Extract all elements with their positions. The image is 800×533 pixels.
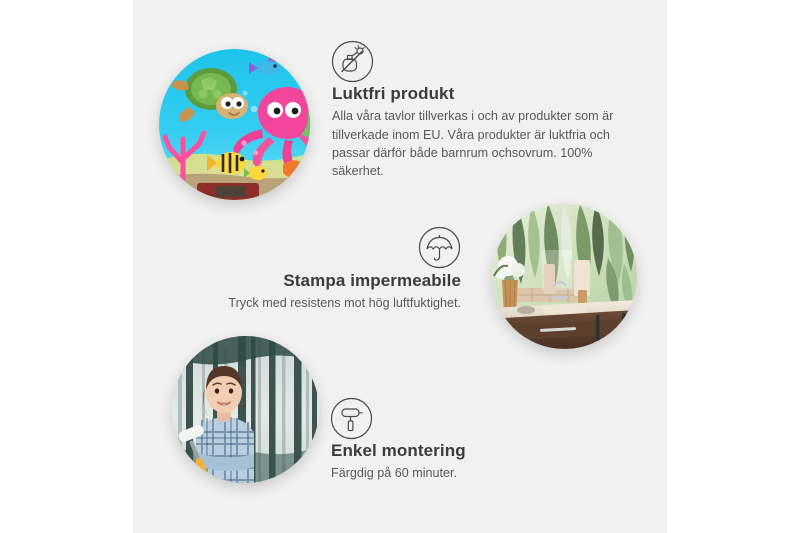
feature-title: Enkel montering [331, 440, 590, 461]
paint-roller-icon [330, 397, 373, 440]
product-feature-infographic: Luktfri produkt Alla våra tavlor tillver… [0, 0, 800, 533]
no-fragrance-icon [331, 40, 374, 83]
bathroom-vanity-leaf-wallpaper-photo [492, 204, 637, 349]
feature-title: Luktfri produkt [332, 83, 629, 104]
feature-easy-mounting-text: Enkel montering Färgdig på 60 minuter. [331, 440, 590, 483]
feature-description: Alla våra tavlor tillverkas i och av pro… [332, 107, 629, 180]
umbrella-icon [418, 226, 461, 269]
feature-description: Tryck med resistens mot hög luftfuktighe… [205, 294, 461, 312]
feature-description: Färgdig på 60 minuter. [331, 464, 590, 482]
feature-odour-free-text: Luktfri produkt Alla våra tavlor tillver… [332, 83, 629, 180]
woman-paint-roller-forest-mural-photo [172, 336, 319, 483]
underwater-cartoon-mural-photo [159, 49, 310, 200]
feature-waterproof-print-text: Stampa impermeabile Tryck med resistens … [205, 270, 461, 313]
feature-title: Stampa impermeabile [205, 270, 461, 291]
